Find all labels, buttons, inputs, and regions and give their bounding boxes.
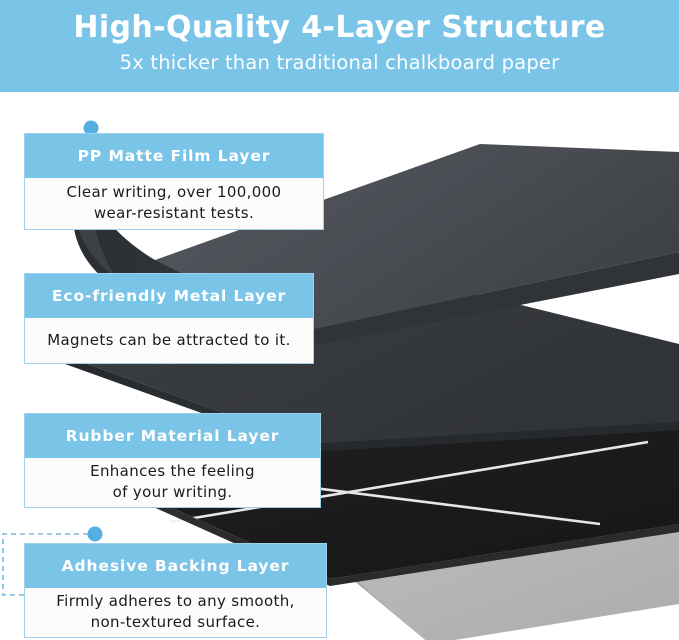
callout-card-body-line: wear-resistant tests. [94,203,254,224]
header-banner: High-Quality 4-Layer Structure 5x thicke… [0,0,679,92]
callout-card-heading: PP Matte Film Layer [25,134,323,178]
callout-card-heading: Adhesive Backing Layer [25,544,326,588]
page-subtitle: 5x thicker than traditional chalkboard p… [0,49,679,77]
callout-card-body-line: of your writing. [113,482,233,503]
callout-card-body: Enhances the feeling of your writing. [25,458,320,506]
callout-card-body: Magnets can be attracted to it. [25,318,313,362]
callout-card-body-line: Clear writing, over 100,000 [67,182,282,203]
callout-card-rubber-material-layer[interactable]: Rubber Material Layer Enhances the feeli… [24,413,321,508]
callout-card-body-line: Magnets can be attracted to it. [47,330,291,351]
callout-card-eco-friendly-metal-layer[interactable]: Eco-friendly Metal Layer Magnets can be … [24,273,314,364]
callout-card-pp-matte-film-layer[interactable]: PP Matte Film Layer Clear writing, over … [24,133,324,230]
callout-card-body-line: non-textured surface. [91,612,261,633]
callout-card-body-line: Enhances the feeling [90,461,255,482]
page-title: High-Quality 4-Layer Structure [0,7,679,49]
callout-card-body: Clear writing, over 100,000 wear-resista… [25,178,323,228]
callout-card-heading: Eco-friendly Metal Layer [25,274,313,318]
callout-card-body: Firmly adheres to any smooth, non-textur… [25,588,326,636]
callout-card-heading: Rubber Material Layer [25,414,320,458]
callout-card-adhesive-backing-layer[interactable]: Adhesive Backing Layer Firmly adheres to… [24,543,327,638]
callout-card-body-line: Firmly adheres to any smooth, [56,591,294,612]
